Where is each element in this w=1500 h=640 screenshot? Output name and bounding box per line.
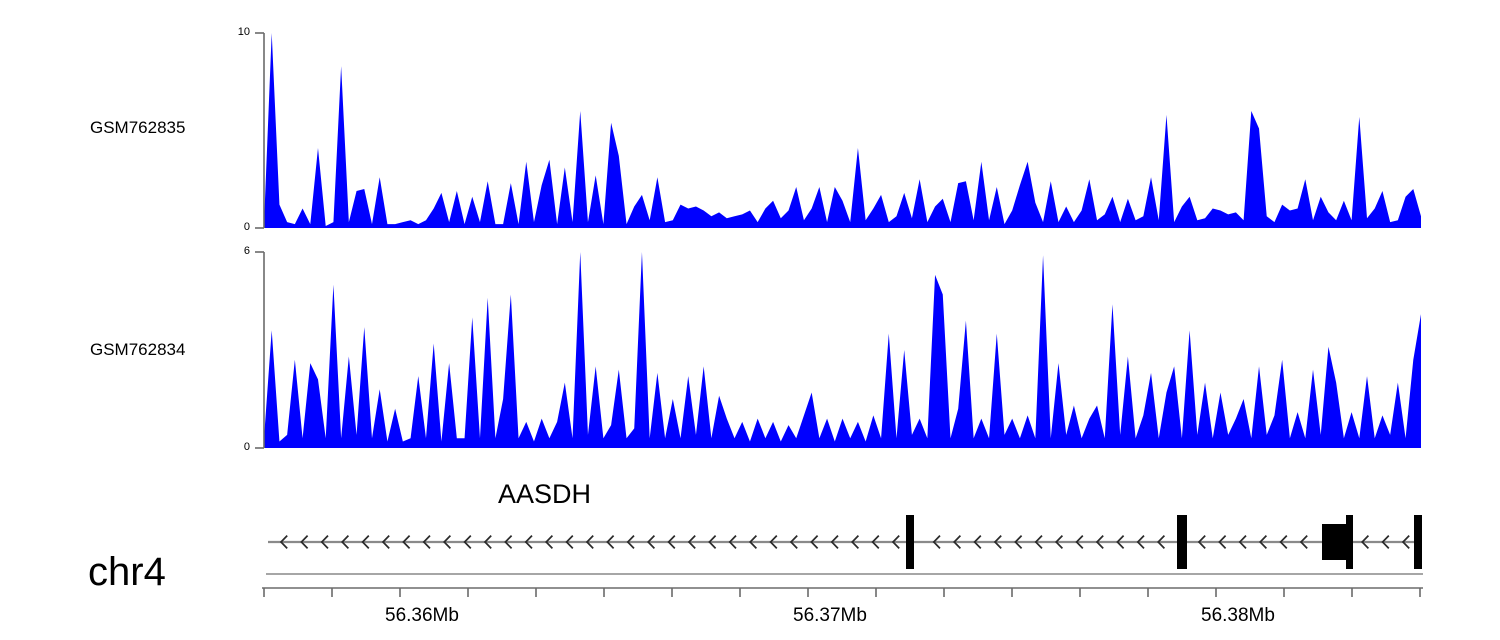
gene-model-track[interactable] [250,500,1450,595]
genome-browser-view: GSM762835 10 0 GSM762834 6 0 AASDH chr4 … [0,0,1500,640]
axis-tick-label-3: 56.38Mb [1201,605,1275,627]
track-label-gsm762835: GSM762835 [90,118,185,138]
track-label-gsm762834: GSM762834 [90,340,185,360]
coverage-track-gsm762835[interactable] [250,28,1430,236]
track1-ymax-label: 10 [228,26,250,38]
coverage-plot-1 [250,28,1430,236]
gene-model-drawing [250,500,1450,590]
coverage-track-gsm762834[interactable] [250,247,1430,455]
track1-ymin-label: 0 [228,221,250,233]
track2-ymax-label: 6 [228,245,250,257]
axis-tick-label-1: 56.36Mb [385,605,459,627]
axis-tick-label-2: 56.37Mb [793,605,867,627]
chromosome-label: chr4 [88,550,166,595]
coverage-plot-2 [250,247,1430,455]
track2-ymin-label: 0 [228,441,250,453]
